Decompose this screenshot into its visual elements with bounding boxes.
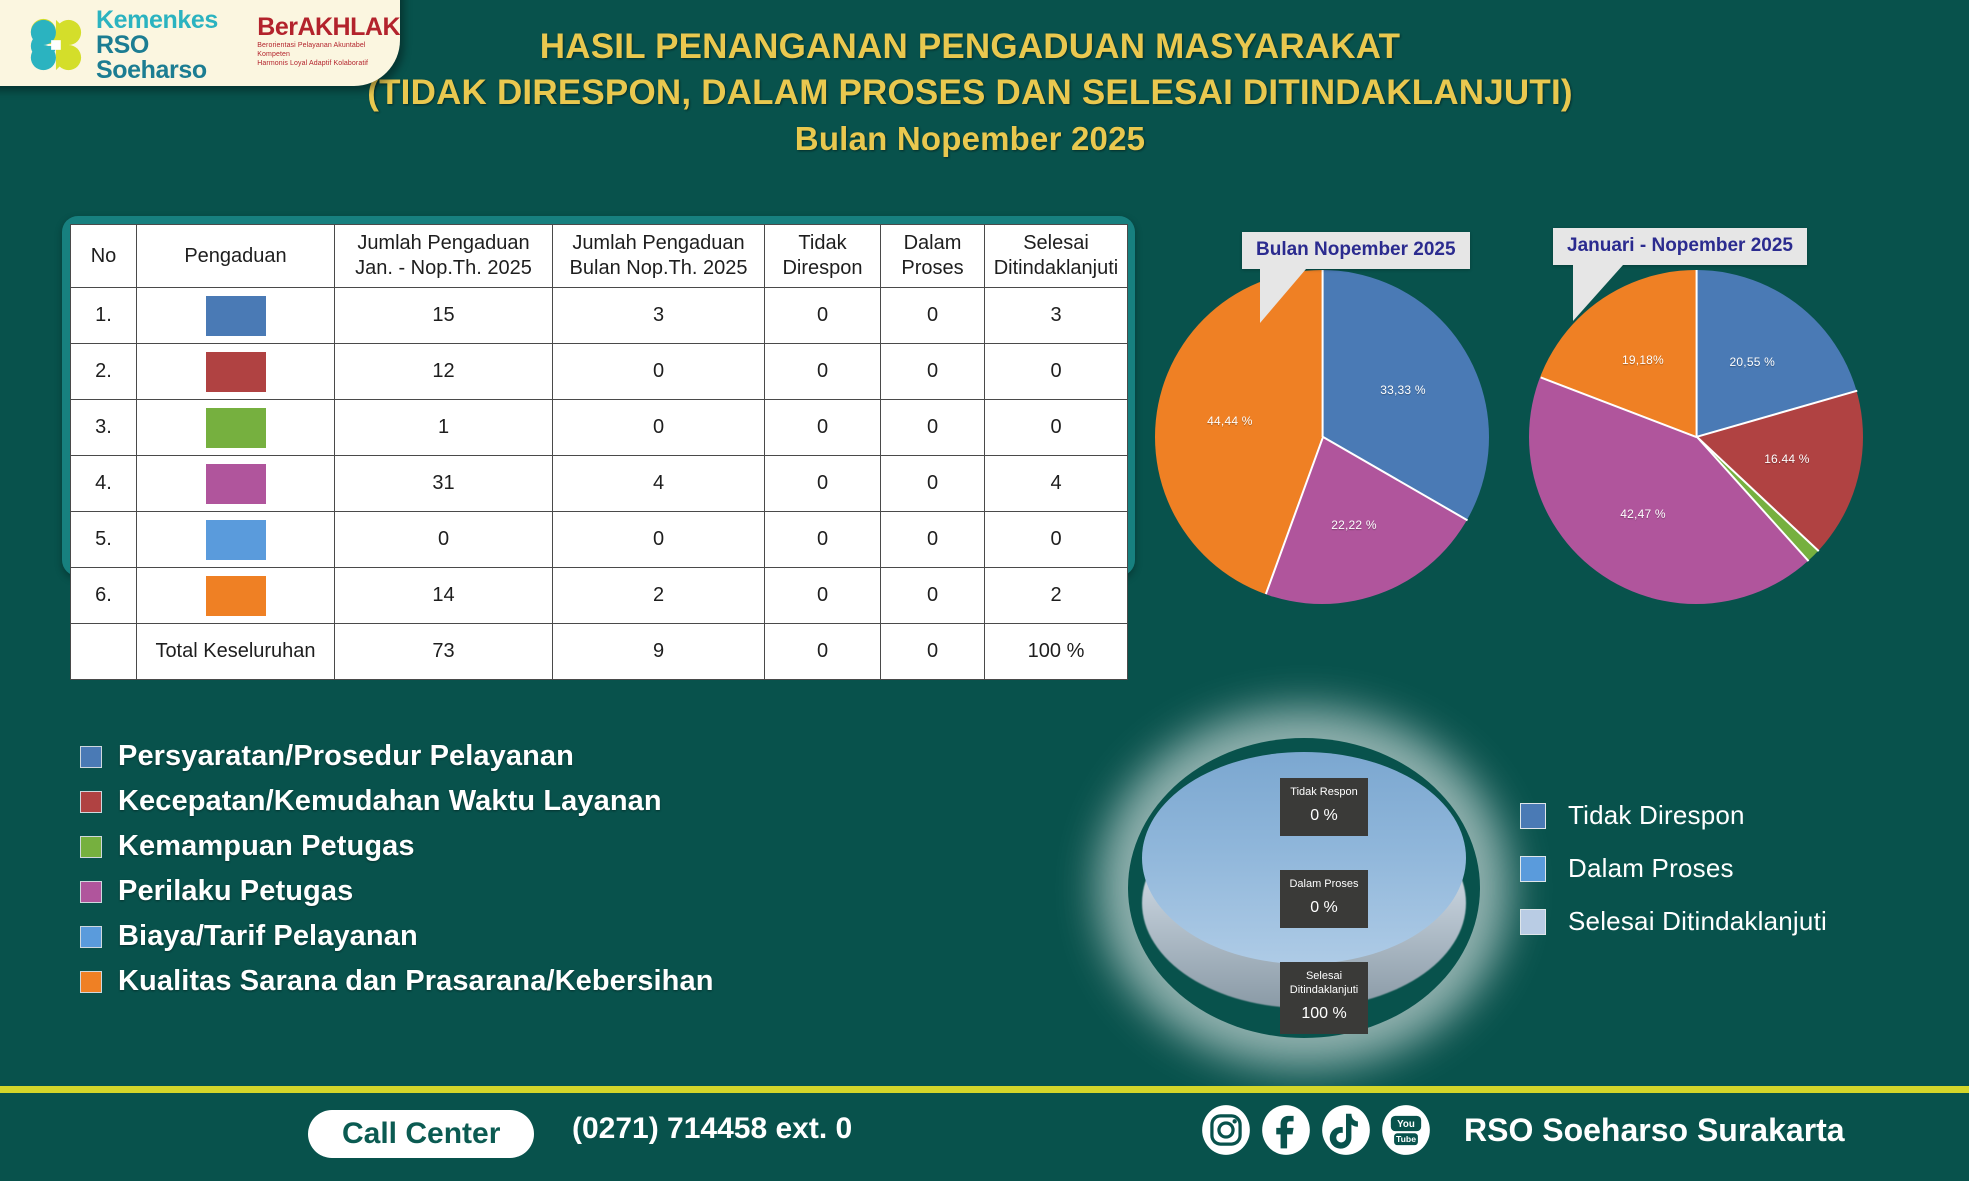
col-header-jumlah-jan-nop: Jumlah Pengaduan Jan. - Nop.Th. 2025 (335, 225, 553, 288)
category-color-swatch (206, 576, 266, 616)
pie1-title: Bulan Nopember 2025 (1256, 239, 1456, 260)
cell-tidak-direspon: 0 (765, 568, 881, 624)
status-legend-color-swatch (1520, 909, 1546, 935)
col-header-dalam-proses: Dalam Proses (881, 225, 985, 288)
cell-category-swatch (137, 456, 335, 512)
cell-selesai: 0 (985, 344, 1128, 400)
cell-no: 2. (71, 344, 137, 400)
col-header-no: No (71, 225, 137, 288)
category-color-swatch (206, 408, 266, 448)
table-body: 1.1530032.1200003.100004.3140045.000006.… (71, 288, 1128, 680)
pie-slice-divider (1541, 377, 1698, 438)
table-row: 4.314004 (71, 456, 1128, 512)
legend-item: Kemampuan Petugas (80, 830, 714, 863)
table-header-row: No Pengaduan Jumlah Pengaduan Jan. - Nop… (71, 225, 1128, 288)
disc-label-selesai-l1: Selesai (1306, 970, 1342, 982)
pie-slice-divider (1696, 270, 1698, 437)
cell-total-selesai: 100 % (985, 624, 1128, 680)
status-legend-item-label: Dalam Proses (1568, 853, 1734, 884)
legend-item: Biaya/Tarif Pelayanan (80, 920, 714, 953)
col-header-dalam-proses-l1: Dalam (904, 232, 962, 254)
cell-no: 6. (71, 568, 137, 624)
title-line-2: (TIDAK DIRESPON, DALAM PROSES DAN SELESA… (330, 70, 1610, 116)
col-header-jumlah-jan-nop-l2: Jan. - Nop.Th. 2025 (355, 257, 532, 279)
pie1-callout: Bulan Nopember 2025 (1242, 232, 1470, 269)
status-legend-color-swatch (1520, 803, 1546, 829)
title-line-3: Bulan Nopember 2025 (330, 115, 1610, 163)
legend-item-label: Kemampuan Petugas (118, 830, 415, 863)
col-header-selesai: Selesai Ditindaklanjuti (985, 225, 1128, 288)
callout-tail-icon (1573, 265, 1623, 379)
cell-dalam-proses: 0 (881, 288, 985, 344)
cell-bulan-nop: 4 (553, 456, 765, 512)
cell-tidak-direspon: 0 (765, 288, 881, 344)
pie-slice-divider (1265, 437, 1324, 594)
brand-logo-card: Kemenkes RSO Soeharso BerAKHLAK Berorien… (0, 0, 400, 86)
cell-bulan-nop: 0 (553, 400, 765, 456)
cell-bulan-nop: 3 (553, 288, 765, 344)
col-header-selesai-l1: Selesai (1023, 232, 1089, 254)
cell-bulan-nop: 0 (553, 344, 765, 400)
legend-color-swatch (80, 746, 102, 768)
svg-text:You: You (1397, 1119, 1415, 1130)
cell-no-empty (71, 624, 137, 680)
legend-item-label: Biaya/Tarif Pelayanan (118, 920, 418, 953)
disc-label-tidak-respon: Tidak Respon 0 % (1280, 778, 1368, 836)
social-icons: You Tube (1200, 1104, 1432, 1156)
kemenkes-logo-icon (24, 16, 86, 74)
cell-jan-nop: 31 (335, 456, 553, 512)
complaints-table-frame: No Pengaduan Jumlah Pengaduan Jan. - Nop… (62, 216, 1135, 576)
cell-jan-nop: 1 (335, 400, 553, 456)
pie-slice-divider (1697, 390, 1858, 438)
table-row: 2.120000 (71, 344, 1128, 400)
legend-color-swatch (80, 881, 102, 903)
status-legend-item: Tidak Direspon (1520, 800, 1827, 831)
logo-wordmark: Kemenkes RSO Soeharso (96, 8, 241, 83)
cell-jan-nop: 15 (335, 288, 553, 344)
col-header-tidak-direspon-l2: Direspon (782, 257, 862, 279)
cell-selesai: 2 (985, 568, 1128, 624)
footer-accent-line (0, 1086, 1969, 1093)
organization-name: RSO Soeharso Surakarta (1464, 1112, 1845, 1149)
category-color-swatch (206, 296, 266, 336)
cell-no: 5. (71, 512, 137, 568)
cell-selesai: 3 (985, 288, 1128, 344)
col-header-jumlah-bulan-nop-l1: Jumlah Pengaduan (572, 232, 744, 254)
logo-line-2: RSO Soeharso (96, 33, 241, 83)
cell-selesai: 0 (985, 512, 1128, 568)
pie-slice-label: 20,55 % (1730, 355, 1775, 369)
disc-label-selesai-l2: Ditindaklanjuti (1290, 984, 1358, 996)
category-color-swatch (206, 352, 266, 392)
cell-category-swatch (137, 512, 335, 568)
status-legend-color-swatch (1520, 856, 1546, 882)
cell-tidak-direspon: 0 (765, 456, 881, 512)
disc-label-selesai-value: 100 % (1286, 1004, 1362, 1024)
callout-tail-icon (1260, 269, 1306, 381)
cell-bulan-nop: 0 (553, 512, 765, 568)
cell-dalam-proses: 0 (881, 400, 985, 456)
cell-total-label: Total Keseluruhan (137, 624, 335, 680)
table-row: 6.142002 (71, 568, 1128, 624)
pie1-disc: 33,33 %22,22 %44,44 % (1155, 270, 1489, 604)
legend-color-swatch (80, 791, 102, 813)
cell-jan-nop: 0 (335, 512, 553, 568)
col-header-selesai-l2: Ditindaklanjuti (994, 257, 1119, 279)
legend-item: Persyaratan/Prosedur Pelayanan (80, 740, 714, 773)
pie-slice-divider (1322, 270, 1324, 437)
status-legend-item: Selesai Ditindaklanjuti (1520, 906, 1827, 937)
category-color-swatch (206, 464, 266, 504)
cell-no: 1. (71, 288, 137, 344)
disc-label-selesai: Selesai Ditindaklanjuti 100 % (1280, 962, 1368, 1034)
cell-category-swatch (137, 288, 335, 344)
pie2-callout: Januari - Nopember 2025 (1553, 228, 1807, 265)
cell-tidak-direspon: 0 (765, 344, 881, 400)
table-total-row: Total Keseluruhan73900100 % (71, 624, 1128, 680)
col-header-dalam-proses-l2: Proses (901, 257, 963, 279)
disc-label-dalam-proses-value: 0 % (1286, 898, 1362, 918)
legend-status-categories: Tidak DiresponDalam ProsesSelesai Ditind… (1520, 800, 1827, 959)
legend-item-label: Kecepatan/Kemudahan Waktu Layanan (118, 785, 662, 818)
status-legend-item: Dalam Proses (1520, 853, 1827, 884)
pie-slice-divider (1322, 436, 1467, 521)
col-header-jumlah-jan-nop-l1: Jumlah Pengaduan (357, 232, 529, 254)
berakhlak-sub-2: Harmonis Loyal Adaptif Kolaboratif (257, 60, 400, 69)
pie-slice-label: 33,33 % (1380, 383, 1425, 397)
cell-jan-nop: 14 (335, 568, 553, 624)
cell-total-dalam-proses: 0 (881, 624, 985, 680)
col-header-jumlah-bulan-nop-l2: Bulan Nop.Th. 2025 (570, 257, 748, 279)
pie-slice-label: 19,18% (1622, 353, 1664, 367)
cell-category-swatch (137, 568, 335, 624)
call-center-badge: Call Center (308, 1110, 534, 1158)
col-header-pengaduan: Pengaduan (137, 225, 335, 288)
cell-dalam-proses: 0 (881, 568, 985, 624)
berakhlak-sub-1: Berorientasi Pelayanan Akuntabel Kompete… (257, 42, 400, 60)
cell-tidak-direspon: 0 (765, 400, 881, 456)
berakhlak-logo: BerAKHLAK Berorientasi Pelayanan Akuntab… (257, 13, 400, 68)
cell-bulan-nop: 2 (553, 568, 765, 624)
title-line-1: HASIL PENANGANAN PENGADUAN MASYARAKAT (330, 24, 1610, 70)
legend-complaint-categories: Persyaratan/Prosedur PelayananKecepatan/… (80, 740, 714, 1010)
cell-dalam-proses: 0 (881, 512, 985, 568)
category-color-swatch (206, 520, 266, 560)
tiktok-icon[interactable] (1320, 1104, 1372, 1156)
disc-label-dalam-proses-text: Dalam Proses (1289, 878, 1358, 890)
facebook-icon[interactable] (1260, 1104, 1312, 1156)
status-3d-pie-chart: Tidak Respon 0 % Dalam Proses 0 % Selesa… (1128, 738, 1480, 1038)
svg-text:Tube: Tube (1396, 1134, 1416, 1144)
legend-item: Kecepatan/Kemudahan Waktu Layanan (80, 785, 714, 818)
instagram-icon[interactable] (1200, 1104, 1252, 1156)
cell-total-jan-nop: 73 (335, 624, 553, 680)
cell-no: 4. (71, 456, 137, 512)
complaints-table: No Pengaduan Jumlah Pengaduan Jan. - Nop… (70, 224, 1128, 680)
legend-item: Perilaku Petugas (80, 875, 714, 908)
legend-color-swatch (80, 971, 102, 993)
cell-selesai: 4 (985, 456, 1128, 512)
table-row: 3.10000 (71, 400, 1128, 456)
col-header-tidak-direspon: Tidak Direspon (765, 225, 881, 288)
youtube-icon[interactable]: You Tube (1380, 1104, 1432, 1156)
status-legend-item-label: Selesai Ditindaklanjuti (1568, 906, 1827, 937)
pie2-title: Januari - Nopember 2025 (1567, 235, 1793, 256)
cell-tidak-direspon: 0 (765, 512, 881, 568)
disc-label-tidak-respon-text: Tidak Respon (1290, 786, 1357, 798)
table-row: 5.00000 (71, 512, 1128, 568)
cell-dalam-proses: 0 (881, 344, 985, 400)
status-legend-item-label: Tidak Direspon (1568, 800, 1745, 831)
pie-slice-label: 44,44 % (1207, 414, 1252, 428)
col-header-tidak-direspon-l1: Tidak (798, 232, 846, 254)
cell-category-swatch (137, 400, 335, 456)
logo-line-1: Kemenkes (96, 8, 241, 33)
cell-total-bulan-nop: 9 (553, 624, 765, 680)
pie-slice-label: 16.44 % (1764, 452, 1809, 466)
cell-total-tidak-direspon: 0 (765, 624, 881, 680)
legend-item-label: Perilaku Petugas (118, 875, 353, 908)
table-head: No Pengaduan Jumlah Pengaduan Jan. - Nop… (71, 225, 1128, 288)
legend-color-swatch (80, 926, 102, 948)
cell-category-swatch (137, 344, 335, 400)
pie-slice-label: 42,47 % (1620, 507, 1665, 521)
page-title: HASIL PENANGANAN PENGADUAN MASYARAKAT (T… (330, 24, 1610, 163)
cell-dalam-proses: 0 (881, 456, 985, 512)
table-row: 1.153003 (71, 288, 1128, 344)
cell-no: 3. (71, 400, 137, 456)
disc-label-tidak-respon-value: 0 % (1286, 806, 1362, 826)
pie-chart-november: 33,33 %22,22 %44,44 % (1155, 270, 1489, 604)
pie-slice-label: 22,22 % (1331, 518, 1376, 532)
disc-label-dalam-proses: Dalam Proses 0 % (1280, 870, 1368, 928)
legend-color-swatch (80, 836, 102, 858)
call-center-phone: (0271) 714458 ext. 0 (572, 1112, 852, 1146)
berakhlak-title: BerAKHLAK (257, 13, 400, 42)
cell-selesai: 0 (985, 400, 1128, 456)
legend-item: Kualitas Sarana dan Prasarana/Kebersihan (80, 965, 714, 998)
legend-item-label: Persyaratan/Prosedur Pelayanan (118, 740, 574, 773)
legend-item-label: Kualitas Sarana dan Prasarana/Kebersihan (118, 965, 714, 998)
cell-jan-nop: 12 (335, 344, 553, 400)
col-header-jumlah-bulan-nop: Jumlah Pengaduan Bulan Nop.Th. 2025 (553, 225, 765, 288)
